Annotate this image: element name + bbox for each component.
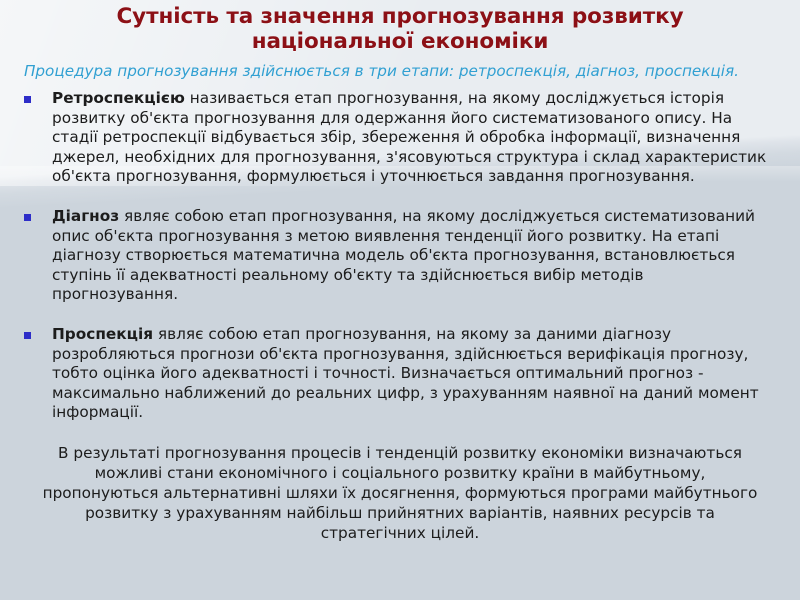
intro-paragraph: Процедура прогнозування здійснюється в т… [0, 62, 800, 81]
list-item: Діагноз являє собою етап прогнозування, … [0, 207, 800, 305]
bullet-term: Ретроспекцією [52, 89, 185, 107]
presentation-slide: Сутність та значення прогнозування розви… [0, 0, 800, 600]
closing-paragraph: В результаті прогнозування процесів і те… [0, 443, 800, 543]
slide-title-line-1: Сутність та значення прогнозування розви… [116, 4, 683, 29]
slide-content: Сутність та значення прогнозування розви… [0, 0, 800, 543]
bullet-term: Діагноз [52, 207, 119, 225]
square-bullet-icon [24, 332, 31, 339]
bullet-list: Ретроспекцією називається етап прогнозув… [0, 89, 800, 423]
list-item: Проспекція являє собою етап прогнозуванн… [0, 325, 800, 423]
bullet-term: Проспекція [52, 325, 153, 343]
slide-title: Сутність та значення прогнозування розви… [0, 0, 800, 54]
square-bullet-icon [24, 96, 31, 103]
bullet-text: являє собою етап прогнозування, на якому… [52, 207, 755, 303]
list-item: Ретроспекцією називається етап прогнозув… [0, 89, 800, 187]
bullet-text: являє собою етап прогнозування, на якому… [52, 325, 759, 421]
square-bullet-icon [24, 214, 31, 221]
slide-title-line-2: національної економіки [252, 29, 549, 54]
